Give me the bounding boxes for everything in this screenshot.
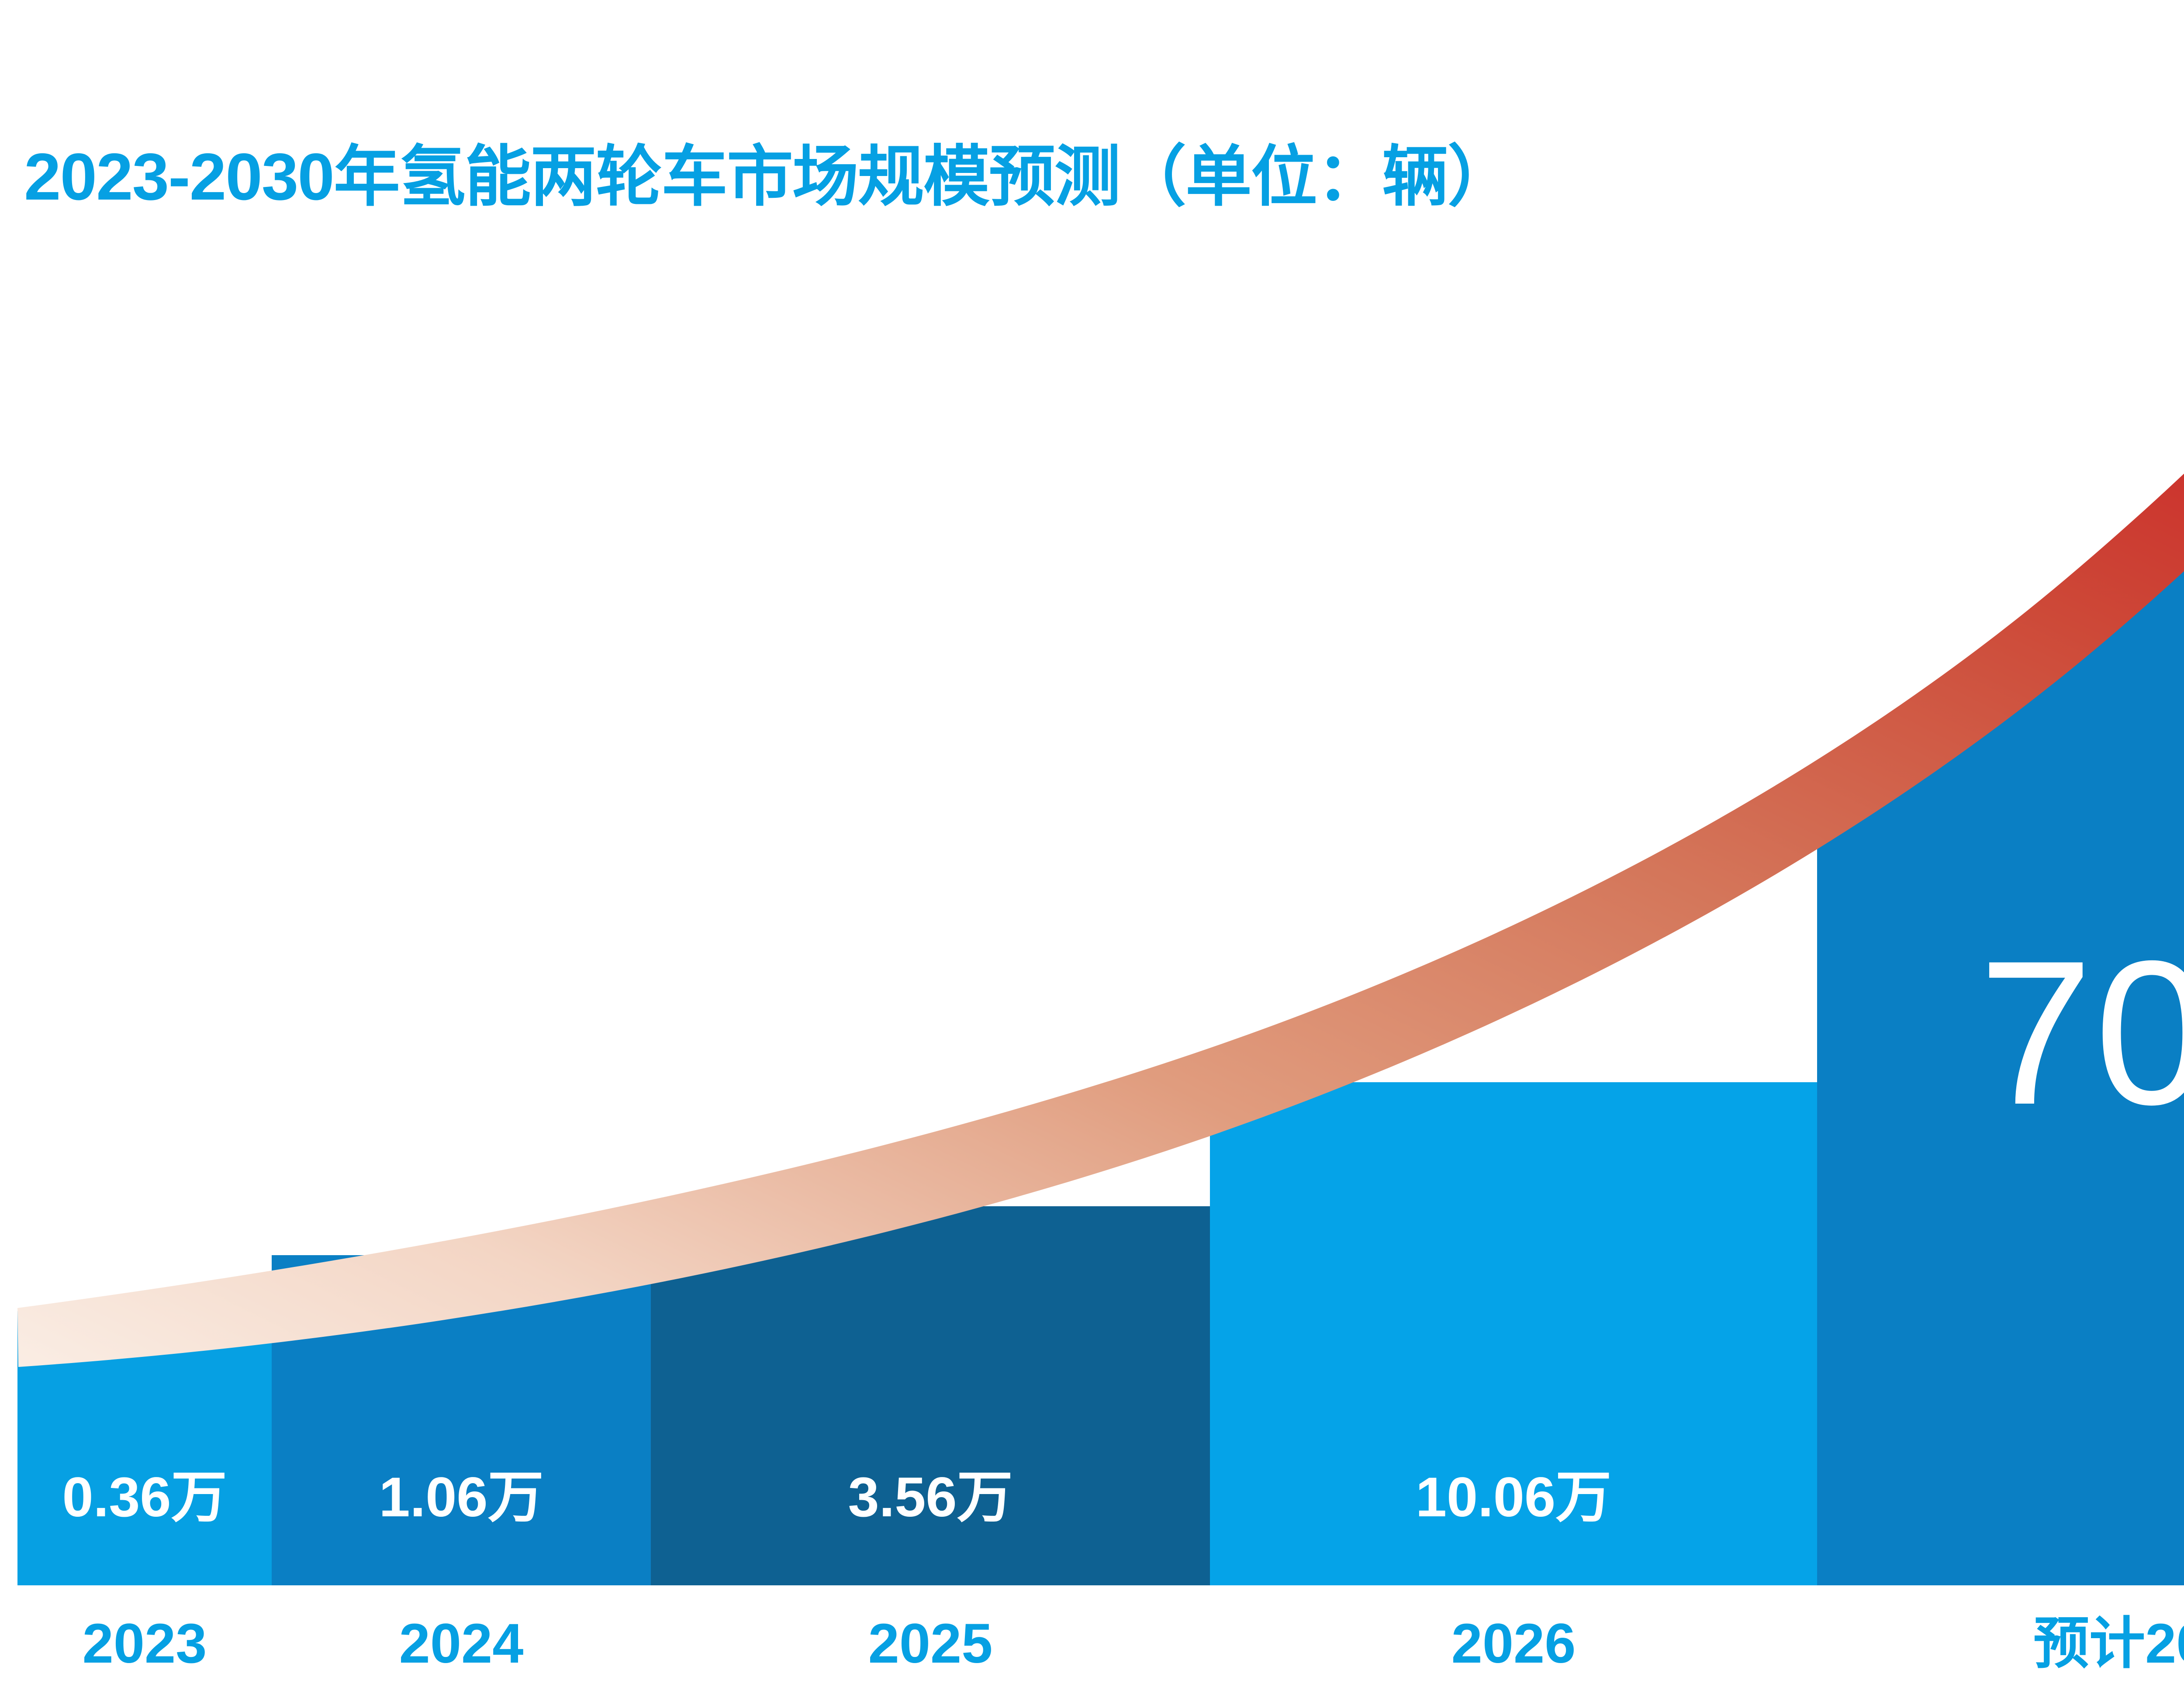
bar-value-2024: 1.06万 — [272, 1470, 651, 1525]
axis-label-2025: 2025 — [651, 1616, 1210, 1672]
bar-2030-forecast — [1817, 205, 2184, 1585]
bar-value-2026: 10.06万 — [1210, 1470, 1817, 1525]
axis-label-2024: 2024 — [272, 1616, 651, 1672]
highlight-value-70wan: 70万 — [1979, 930, 2184, 1135]
bar-value-2023: 0.36万 — [17, 1470, 272, 1525]
axis-label-2030-forecast: 预计2030年增长 — [1817, 1616, 2184, 1672]
axis-label-2023: 2023 — [17, 1616, 272, 1672]
axis-label-2026: 2026 — [1210, 1616, 1817, 1672]
chart-graphics — [0, 0, 2184, 1698]
bar-value-2025: 3.56万 — [651, 1470, 1210, 1525]
chart-canvas: 2023-2030年氢能两轮车市场规模预测（单位：辆） 0.36万 1.06万 … — [0, 0, 2184, 1698]
page-title: 2023-2030年氢能两轮车市场规模预测（单位：辆） — [24, 139, 1513, 215]
